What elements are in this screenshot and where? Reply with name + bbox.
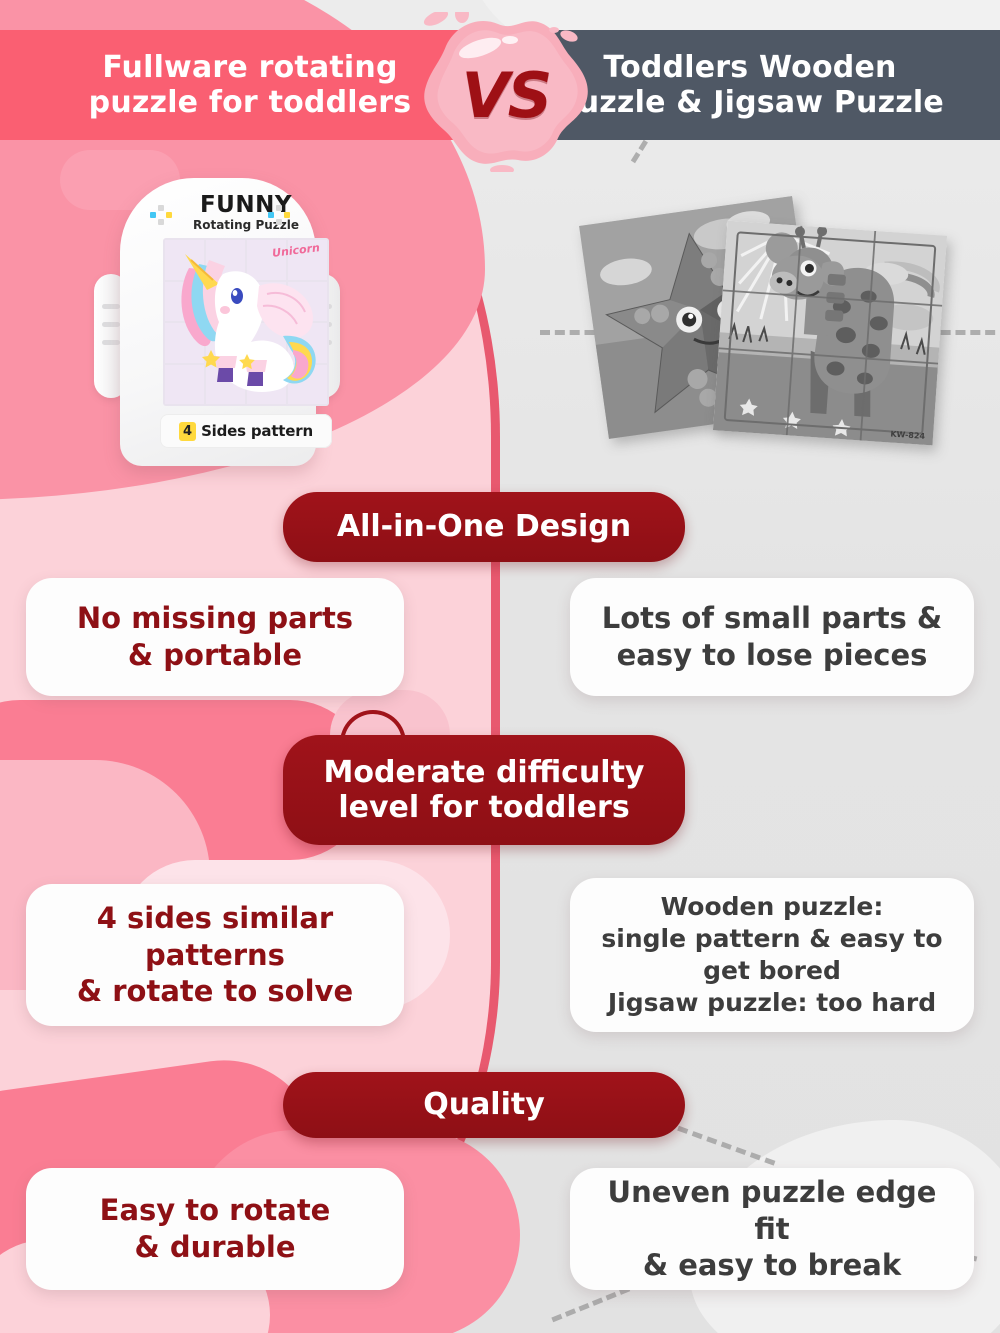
vs-badge: VS [418,12,594,172]
left-feature-card-3: Easy to rotate & durable [26,1168,404,1290]
left-product-image: FUNNY Rotating Puzzle [92,178,342,478]
toy-brand-label: FUNNY [158,192,334,218]
pixel-dot [276,219,282,225]
puzzle-tile-grid[interactable] [163,238,329,406]
sides-count-badge: 4 [179,422,196,441]
puzzle-tile[interactable] [288,282,327,322]
right-feature-card-3: Uneven puzzle edge fit & easy to break [570,1168,974,1290]
puzzle-tile[interactable] [247,365,286,405]
category-pill-difficulty: Moderate difficulty level for toddlers [283,735,685,845]
pixel-dot [268,212,274,218]
puzzle-tile[interactable] [206,240,245,280]
left-feature-card-2: 4 sides similar patterns & rotate to sol… [26,884,404,1026]
pixel-dot [150,212,156,218]
puzzle-tile[interactable] [165,323,204,363]
puzzle-tile[interactable] [165,240,204,280]
giraffe-wooden-puzzle: KW-824 [713,221,947,446]
right-feature-card-1: Lots of small parts & easy to lose piece… [570,578,974,696]
toy-subtitle-label: Rotating Puzzle [158,218,334,232]
pixel-dot [284,212,290,218]
right-product-image: KW-824 [585,190,965,465]
toy-body: FUNNY Rotating Puzzle [120,178,316,466]
pixel-dot [166,212,172,218]
puzzle-frame-border [724,231,937,434]
puzzle-tile[interactable] [165,365,204,405]
puzzle-tile[interactable] [165,282,204,322]
puzzle-tile[interactable] [206,323,245,363]
left-feature-card-1: No missing parts & portable [26,578,404,696]
puzzle-tile[interactable] [247,282,286,322]
pixel-dot [276,205,282,211]
puzzle-tile[interactable] [247,323,286,363]
puzzle-tile[interactable] [288,323,327,363]
category-pill-quality: Quality [283,1072,685,1138]
pixel-dot [158,205,164,211]
pixel-dot [158,219,164,225]
puzzle-tile[interactable] [206,282,245,322]
puzzle-tile[interactable] [206,365,245,405]
infographic-stage: Fullware rotating puzzle for toddlers To… [0,0,1000,1333]
right-feature-card-2: Wooden puzzle: single pattern & easy to … [570,878,974,1032]
vs-label: VS [418,12,594,172]
sides-pattern-label: Sides pattern [201,422,313,440]
category-pill-all-in-one: All-in-One Design [283,492,685,562]
puzzle-tile[interactable] [288,365,327,405]
toy-footer-label: 4 Sides pattern [160,414,332,448]
